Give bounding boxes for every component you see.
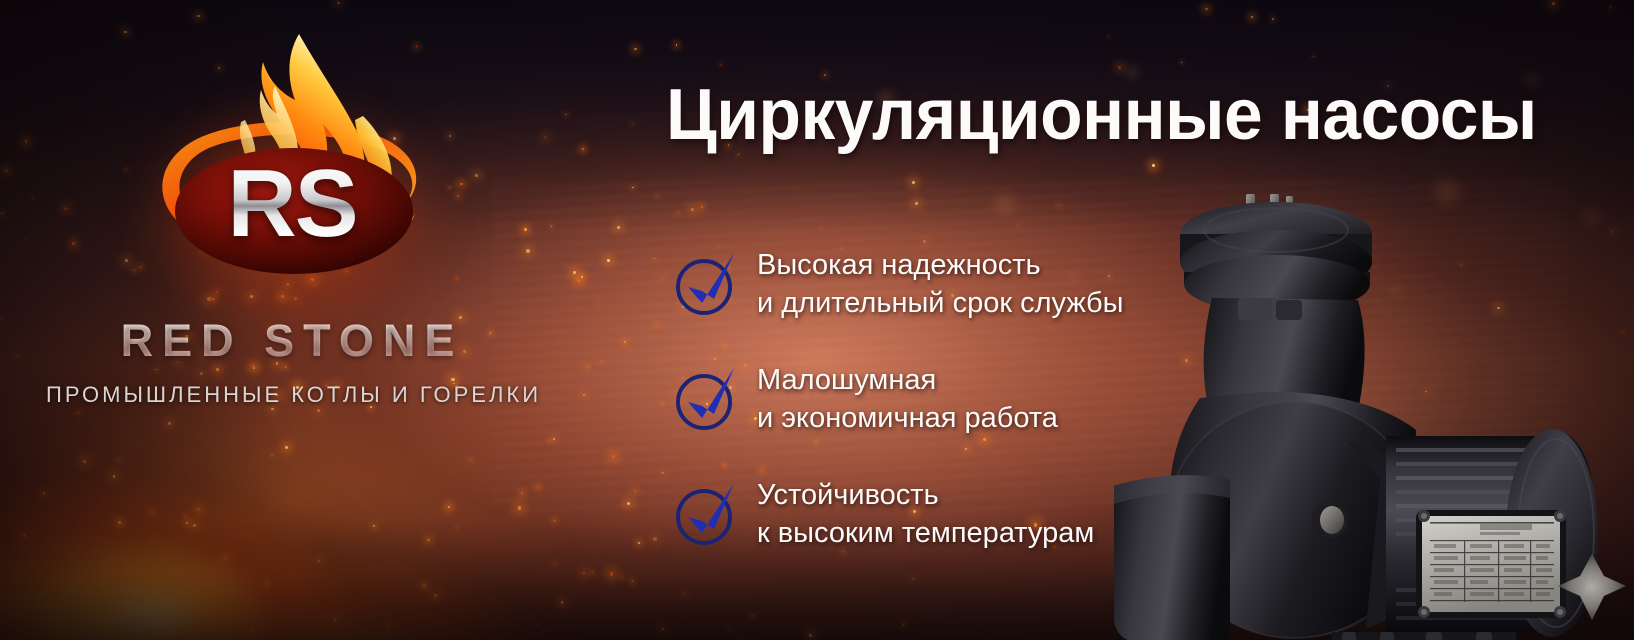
- page-title: Циркуляционные насосы: [666, 79, 1537, 151]
- logo-monogram: RS: [127, 156, 457, 252]
- promo-banner: RS RED STONE ПРОМЫШЛЕННЫЕ КОТЛЫ И ГОРЕЛК…: [0, 0, 1634, 640]
- check-circle-icon: [672, 249, 740, 317]
- product-image-circulation-pump: [1080, 180, 1634, 640]
- brand-logo: RS RED STONE ПРОМЫШЛЕННЫЕ КОТЛЫ И ГОРЕЛК…: [46, 24, 538, 394]
- brand-tagline: ПРОМЫШЛЕННЫЕ КОТЛЫ И ГОРЕЛКИ: [46, 382, 538, 408]
- check-circle-icon: [672, 364, 740, 432]
- flame-emblem: RS: [127, 24, 457, 306]
- check-circle-icon: [672, 479, 740, 547]
- pump-illustration: [1080, 180, 1634, 640]
